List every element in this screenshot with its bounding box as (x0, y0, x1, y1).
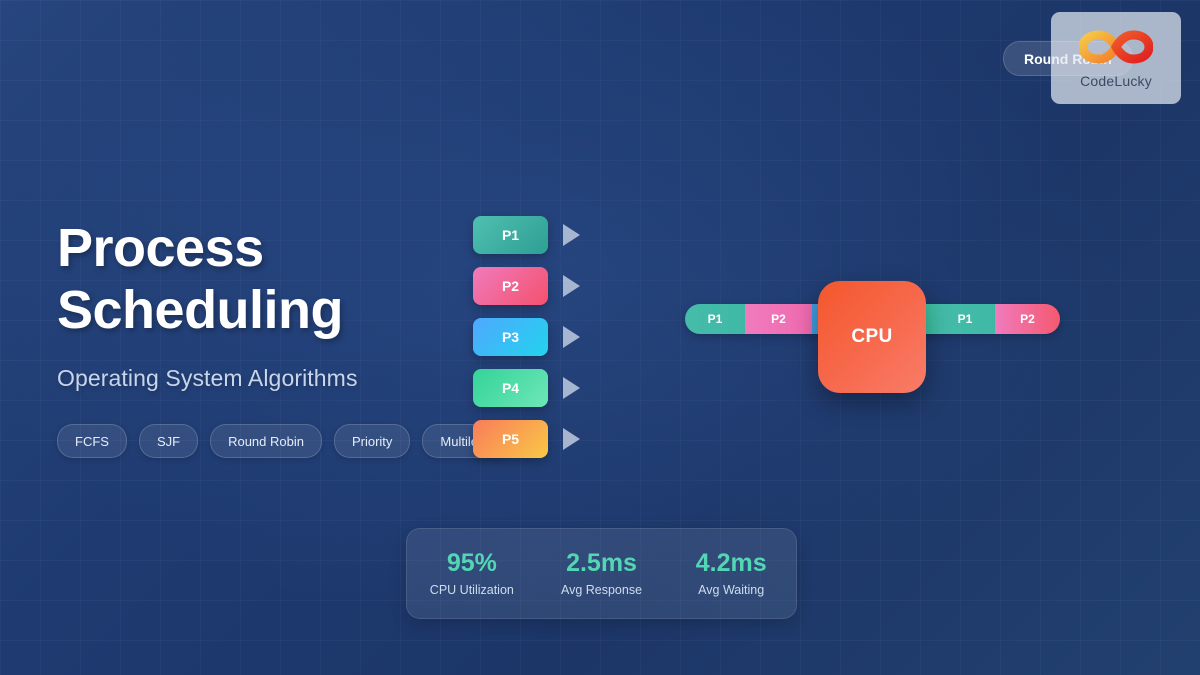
algorithm-pill-fcfs[interactable]: FCFS (57, 424, 127, 458)
play-triangle-icon (563, 224, 580, 246)
metric-label: Avg Waiting (666, 583, 796, 597)
queue-row: P4 (473, 369, 580, 407)
timeline-segment-p2: P2 (745, 304, 812, 334)
page-title: Process Scheduling (57, 218, 343, 341)
process-block-p1[interactable]: P1 (473, 216, 548, 254)
metric-avg-response: 2.5ms Avg Response (537, 550, 667, 598)
play-triangle-icon (563, 275, 580, 297)
metric-label: Avg Response (537, 583, 667, 597)
timeline-segment-p1: P1 (935, 304, 995, 334)
algorithm-pill-list: FCFS SJF Round Robin Priority Multilevel (57, 424, 513, 458)
timeline-segment-p1: P1 (685, 304, 745, 334)
play-triangle-icon (563, 377, 580, 399)
process-block-p2[interactable]: P2 (473, 267, 548, 305)
cpu-block[interactable]: CPU (818, 281, 926, 393)
title-line-1: Process (57, 218, 343, 280)
metric-cpu-utilization: 95% CPU Utilization (407, 550, 537, 598)
algorithm-pill-sjf[interactable]: SJF (139, 424, 198, 458)
play-triangle-icon (563, 428, 580, 450)
watermark: CodeLucky (1051, 12, 1181, 104)
metric-label: CPU Utilization (407, 583, 537, 597)
watermark-brand: CodeLucky (1080, 73, 1152, 89)
timeline-segment-gap (925, 304, 935, 334)
page-subtitle: Operating System Algorithms (57, 365, 358, 392)
process-queue: P1 P2 P3 P4 P5 (473, 216, 580, 471)
infinity-loop-icon (1079, 27, 1153, 72)
queue-row: P1 (473, 216, 580, 254)
algorithm-pill-round-robin[interactable]: Round Robin (210, 424, 322, 458)
queue-row: P5 (473, 420, 580, 458)
process-block-p4[interactable]: P4 (473, 369, 548, 407)
algorithm-pill-priority[interactable]: Priority (334, 424, 410, 458)
play-triangle-icon (563, 326, 580, 348)
slide-canvas: Process Scheduling Operating System Algo… (0, 0, 1200, 675)
metric-value: 2.5ms (537, 550, 667, 578)
queue-row: P3 (473, 318, 580, 356)
process-block-p5[interactable]: P5 (473, 420, 548, 458)
metric-value: 95% (407, 550, 537, 578)
metrics-card: 95% CPU Utilization 2.5ms Avg Response 4… (406, 528, 797, 619)
metric-value: 4.2ms (666, 550, 796, 578)
queue-row: P2 (473, 267, 580, 305)
process-block-p3[interactable]: P3 (473, 318, 548, 356)
metric-avg-waiting: 4.2ms Avg Waiting (666, 550, 796, 598)
timeline-segment-p2: P2 (995, 304, 1060, 334)
title-line-2: Scheduling (57, 280, 343, 342)
